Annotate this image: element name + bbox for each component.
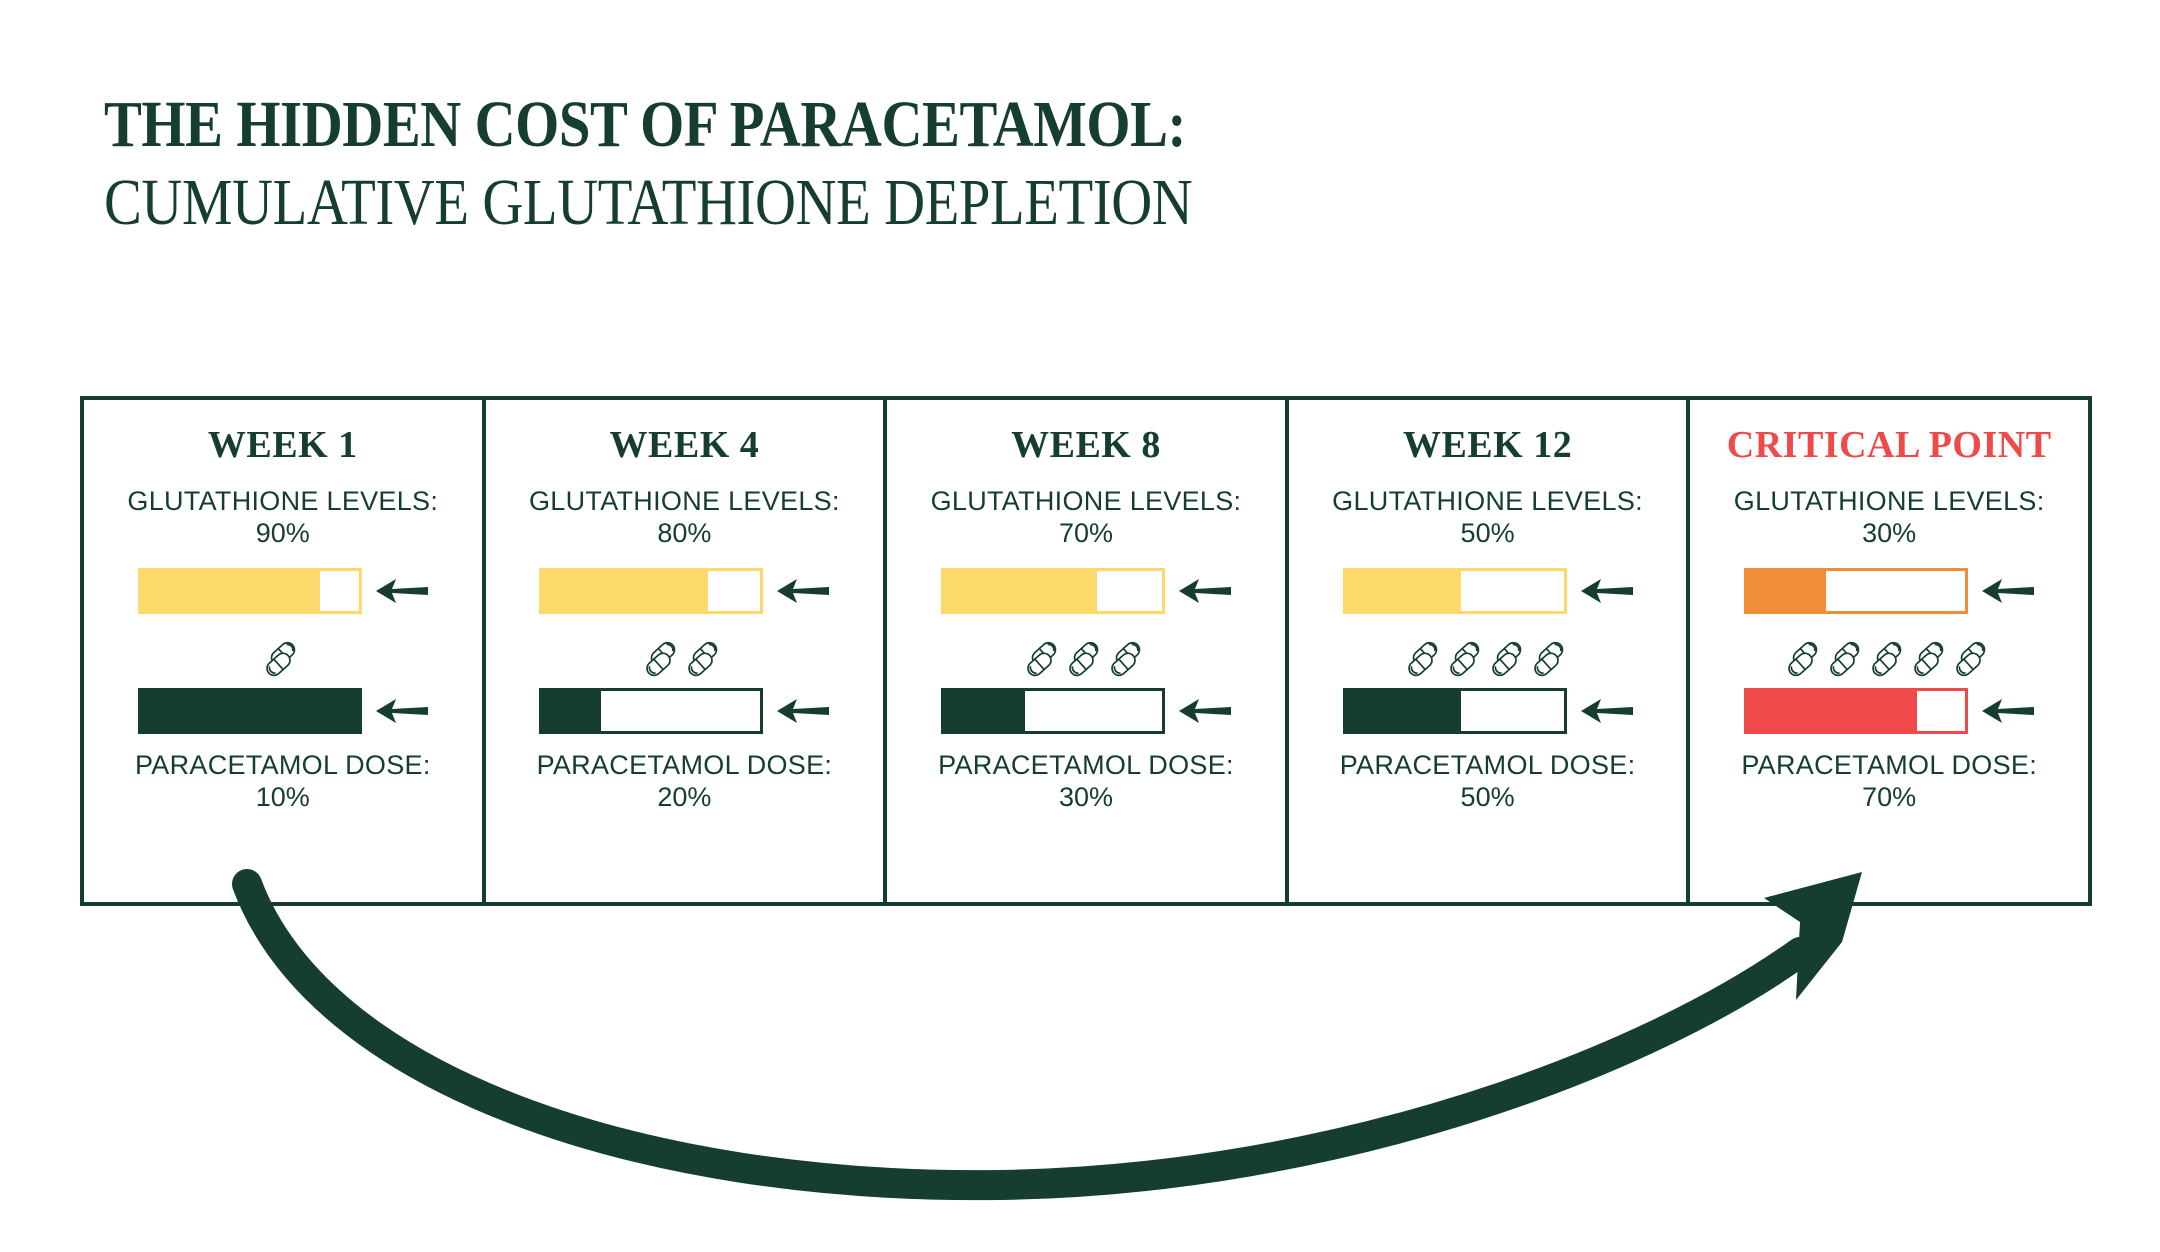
capsule-pill-icon — [1528, 636, 1574, 682]
glutathione-bar-track — [1744, 568, 1968, 614]
title-line-secondary: CUMULATIVE GLUTATHIONE DEPLETION — [104, 170, 1738, 236]
left-pointing-arrow-icon — [1982, 696, 2034, 726]
glutathione-value: 70% — [931, 518, 1242, 550]
paracetamol-stat-block: PARACETAMOL DOSE:50% — [1340, 750, 1636, 814]
capsule-pill-icon — [1105, 636, 1151, 682]
capsule-pill-icon — [1486, 636, 1532, 682]
glutathione-bar-row — [138, 568, 428, 614]
paracetamol-bar-row — [1744, 688, 2034, 734]
panel-heading: WEEK 4 — [610, 426, 760, 464]
pill-count-row — [642, 628, 726, 682]
paracetamol-label: PARACETAMOL DOSE: — [537, 750, 833, 782]
glutathione-stat-block: GLUTATHIONE LEVELS:70% — [931, 486, 1242, 550]
glutathione-bar-track — [1343, 568, 1567, 614]
paracetamol-label: PARACETAMOL DOSE: — [1741, 750, 2037, 782]
paracetamol-bar-fill — [542, 691, 601, 731]
panel-heading: WEEK 8 — [1011, 426, 1161, 464]
paracetamol-bar-fill — [1747, 691, 1917, 731]
glutathione-bar-track — [539, 568, 763, 614]
glutathione-bar-fill — [1346, 571, 1462, 611]
capsule-pill-icon — [260, 636, 306, 682]
glutathione-bar-track — [138, 568, 362, 614]
glutathione-bar-row — [539, 568, 829, 614]
glutathione-stat-block: GLUTATHIONE LEVELS:30% — [1734, 486, 2045, 550]
paracetamol-stat-block: PARACETAMOL DOSE:70% — [1741, 750, 2037, 814]
glutathione-label: GLUTATHIONE LEVELS: — [931, 486, 1242, 518]
left-pointing-arrow-icon — [1982, 576, 2034, 606]
paracetamol-bar-row — [138, 688, 428, 734]
timeline-panel[interactable]: CRITICAL POINTGLUTATHIONE LEVELS:30%PARA… — [1690, 400, 2088, 902]
timeline-panel-frame: WEEK 1GLUTATHIONE LEVELS:90%PARACETAMOL … — [80, 396, 2092, 906]
left-pointing-arrow-icon — [376, 576, 428, 606]
glutathione-stat-block: GLUTATHIONE LEVELS:50% — [1332, 486, 1643, 550]
capsule-pill-icon — [1063, 636, 1109, 682]
pill-count-row — [262, 628, 304, 682]
glutathione-bar-row — [941, 568, 1231, 614]
paracetamol-value: 30% — [938, 782, 1234, 814]
timeline-panel[interactable]: WEEK 12GLUTATHIONE LEVELS:50%PARACETAMOL… — [1289, 400, 1691, 902]
paracetamol-bar-row — [1343, 688, 1633, 734]
paracetamol-value: 10% — [135, 782, 431, 814]
pill-count-row — [1784, 628, 1994, 682]
paracetamol-label: PARACETAMOL DOSE: — [938, 750, 1234, 782]
paracetamol-bar-track — [941, 688, 1165, 734]
paracetamol-stat-block: PARACETAMOL DOSE:10% — [135, 750, 431, 814]
glutathione-bar-row — [1343, 568, 1633, 614]
left-pointing-arrow-icon — [777, 576, 829, 606]
timeline-panel[interactable]: WEEK 8GLUTATHIONE LEVELS:70%PARACETAMOL … — [887, 400, 1289, 902]
glutathione-stat-block: GLUTATHIONE LEVELS:90% — [127, 486, 438, 550]
glutathione-stat-block: GLUTATHIONE LEVELS:80% — [529, 486, 840, 550]
glutathione-bar-fill — [944, 571, 1097, 611]
paracetamol-bar-fill — [944, 691, 1025, 731]
paracetamol-bar-fill — [1346, 691, 1462, 731]
paracetamol-bar-row — [941, 688, 1231, 734]
glutathione-bar-fill — [1747, 571, 1825, 611]
capsule-pill-icon — [682, 636, 728, 682]
paracetamol-value: 70% — [1741, 782, 2037, 814]
paracetamol-bar-track — [539, 688, 763, 734]
glutathione-label: GLUTATHIONE LEVELS: — [127, 486, 438, 518]
glutathione-label: GLUTATHIONE LEVELS: — [529, 486, 840, 518]
capsule-pill-icon — [1021, 636, 1067, 682]
capsule-pill-icon — [1908, 636, 1954, 682]
paracetamol-stat-block: PARACETAMOL DOSE:30% — [938, 750, 1234, 814]
title-line-primary: THE HIDDEN COST OF PARACETAMOL: — [104, 92, 1738, 158]
panel-heading: CRITICAL POINT — [1727, 426, 2052, 464]
left-pointing-arrow-icon — [1581, 696, 1633, 726]
paracetamol-bar-track — [1343, 688, 1567, 734]
paracetamol-label: PARACETAMOL DOSE: — [1340, 750, 1636, 782]
capsule-pill-icon — [1866, 636, 1912, 682]
left-pointing-arrow-icon — [1179, 576, 1231, 606]
glutathione-label: GLUTATHIONE LEVELS: — [1332, 486, 1643, 518]
glutathione-label: GLUTATHIONE LEVELS: — [1734, 486, 2045, 518]
paracetamol-bar-fill — [141, 691, 359, 731]
left-pointing-arrow-icon — [1179, 696, 1231, 726]
left-pointing-arrow-icon — [777, 696, 829, 726]
capsule-pill-icon — [640, 636, 686, 682]
paracetamol-value: 50% — [1340, 782, 1636, 814]
glutathione-bar-fill — [141, 571, 320, 611]
glutathione-value: 50% — [1332, 518, 1643, 550]
paracetamol-value: 20% — [537, 782, 833, 814]
page-title: THE HIDDEN COST OF PARACETAMOL: CUMULATI… — [104, 92, 2004, 236]
glutathione-bar-fill — [542, 571, 708, 611]
paracetamol-label: PARACETAMOL DOSE: — [135, 750, 431, 782]
panel-heading: WEEK 1 — [208, 426, 358, 464]
capsule-pill-icon — [1444, 636, 1490, 682]
glutathione-bar-track — [941, 568, 1165, 614]
capsule-pill-icon — [1782, 636, 1828, 682]
capsule-pill-icon — [1950, 636, 1996, 682]
capsule-pill-icon — [1402, 636, 1448, 682]
capsule-pill-icon — [1824, 636, 1870, 682]
glutathione-value: 90% — [127, 518, 438, 550]
pill-count-row — [1023, 628, 1149, 682]
paracetamol-bar-row — [539, 688, 829, 734]
left-pointing-arrow-icon — [376, 696, 428, 726]
pill-count-row — [1404, 628, 1572, 682]
paracetamol-bar-track — [138, 688, 362, 734]
glutathione-value: 80% — [529, 518, 840, 550]
glutathione-bar-row — [1744, 568, 2034, 614]
timeline-panel[interactable]: WEEK 1GLUTATHIONE LEVELS:90%PARACETAMOL … — [84, 400, 486, 902]
left-pointing-arrow-icon — [1581, 576, 1633, 606]
paracetamol-bar-track — [1744, 688, 1968, 734]
timeline-panel[interactable]: WEEK 4GLUTATHIONE LEVELS:80%PARACETAMOL … — [486, 400, 888, 902]
paracetamol-stat-block: PARACETAMOL DOSE:20% — [537, 750, 833, 814]
panel-heading: WEEK 12 — [1403, 426, 1572, 464]
glutathione-value: 30% — [1734, 518, 2045, 550]
